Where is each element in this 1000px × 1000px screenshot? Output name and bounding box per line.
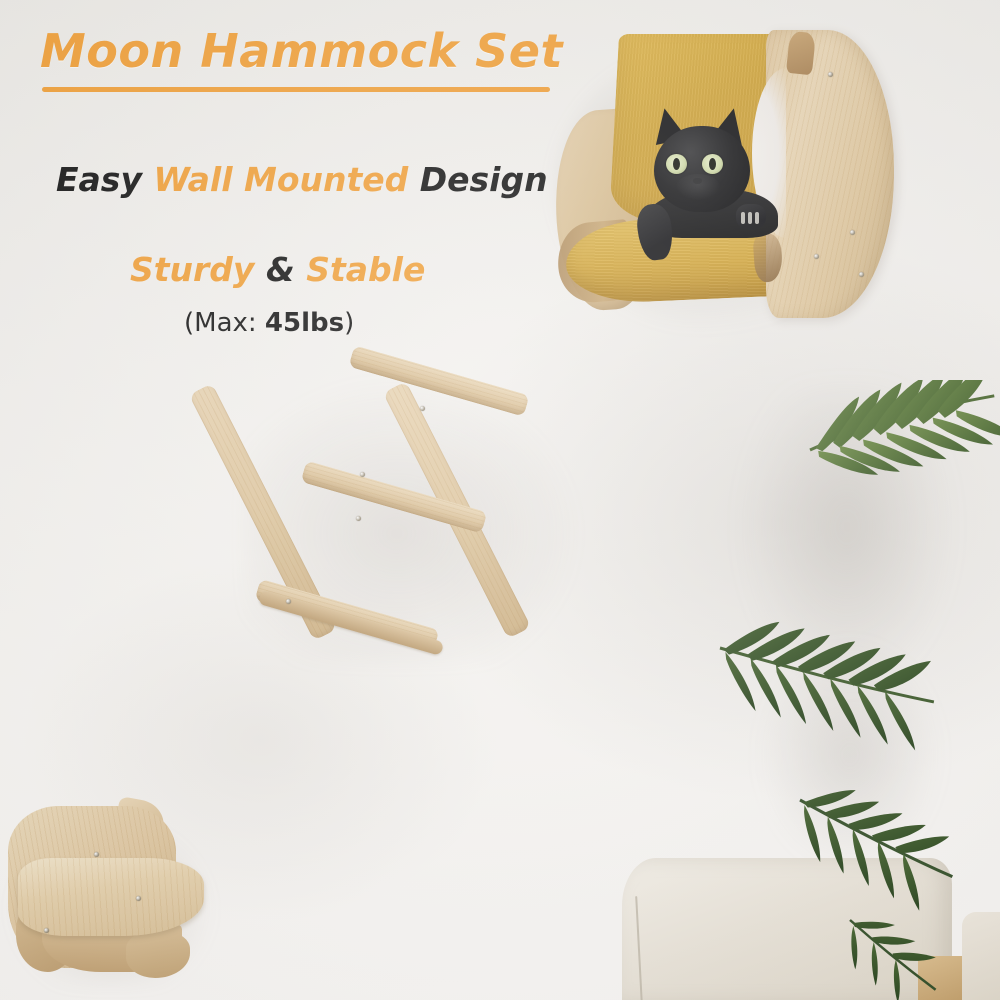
feature-line-max-weight: (Max: 45lbs) [184,308,354,338]
feature-line-wall-mounted: Easy Wall Mounted Design [56,160,548,199]
cat-toe-1 [741,212,745,224]
feature-text-ampersand: & [254,250,306,289]
beige-sofa [622,852,1000,1000]
feature-text-sturdy: Sturdy [130,250,254,289]
hammock-screw-3 [859,272,864,277]
step-ladder-product [248,364,594,670]
ladder-screw-2 [360,472,365,477]
cat-pupil-right [709,158,716,170]
feature-text-easy: Easy [56,160,153,199]
sofa-right-section [962,912,1000,1000]
plant-wall-shadow-lower [760,640,940,870]
cat-toe-2 [748,212,752,224]
page-title: Moon Hammock Set [40,24,600,78]
shelf-top-surface [18,858,204,936]
max-weight-value: 45lbs [265,308,344,338]
shelf-screw-2 [136,896,141,901]
cat-eye-left [666,154,687,174]
ladder-screw-4 [286,599,291,604]
hammock-screw-4 [850,230,855,235]
cat-pupil-left [673,158,680,170]
title-underline [42,87,550,92]
max-weight-suffix: ) [344,308,354,338]
hammock-screw-2 [814,254,819,259]
black-cat [640,108,800,258]
headline-block: Moon Hammock Set [40,24,600,92]
shelf-screw-1 [94,852,99,857]
sofa-wood-frame [918,956,966,1000]
cat-head-shelf-product [6,800,218,990]
cat-toe-3 [755,212,759,224]
sofa-backrest [622,858,952,1000]
shelf-screw-3 [44,928,49,933]
cat-eye-right [702,154,723,174]
hammock-screw-1 [828,72,833,77]
feature-text-stable: Stable [306,250,425,289]
product-image: Moon Hammock Set Easy Wall Mounted Desig… [0,0,1000,1000]
ladder-screw-1 [420,406,425,411]
max-weight-prefix: (Max: [184,308,257,338]
feature-line-sturdy-stable: Sturdy & Stable [130,250,425,289]
ladder-frame [248,364,588,664]
ladder-screw-3 [356,516,361,521]
cat-paw-right [736,204,766,230]
hammock-top-bracket [786,31,816,75]
feature-text-design: Design [408,160,547,199]
feature-text-wall-mounted: Wall Mounted [153,160,408,199]
cat-nose [693,178,702,184]
